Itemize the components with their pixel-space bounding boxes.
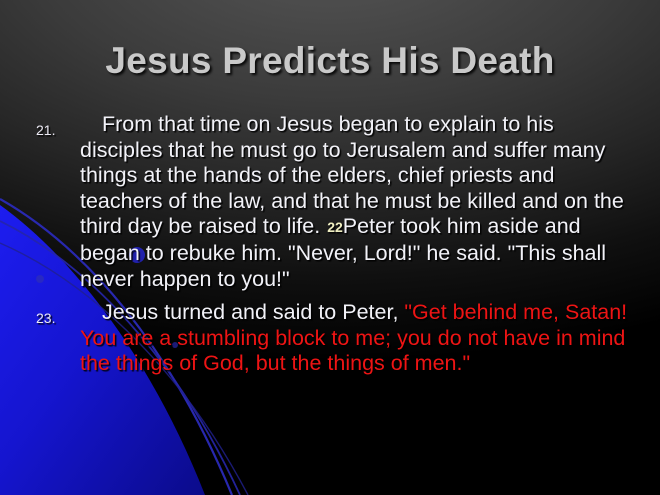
list-marker: 21.	[36, 118, 55, 144]
presentation-slide: Jesus Predicts His Death 21. From that t…	[0, 0, 660, 495]
scripture-text: Jesus turned and said to Peter,	[102, 300, 404, 324]
scripture-paragraph: 23. Jesus turned and said to Peter, "Get…	[22, 300, 638, 377]
slide-body: 21. From that time on Jesus began to exp…	[22, 112, 638, 377]
scripture-paragraph: 21. From that time on Jesus began to exp…	[22, 112, 638, 292]
slide-title: Jesus Predicts His Death	[0, 40, 660, 82]
verse-number: 22	[327, 219, 343, 235]
list-marker: 23.	[36, 306, 55, 332]
